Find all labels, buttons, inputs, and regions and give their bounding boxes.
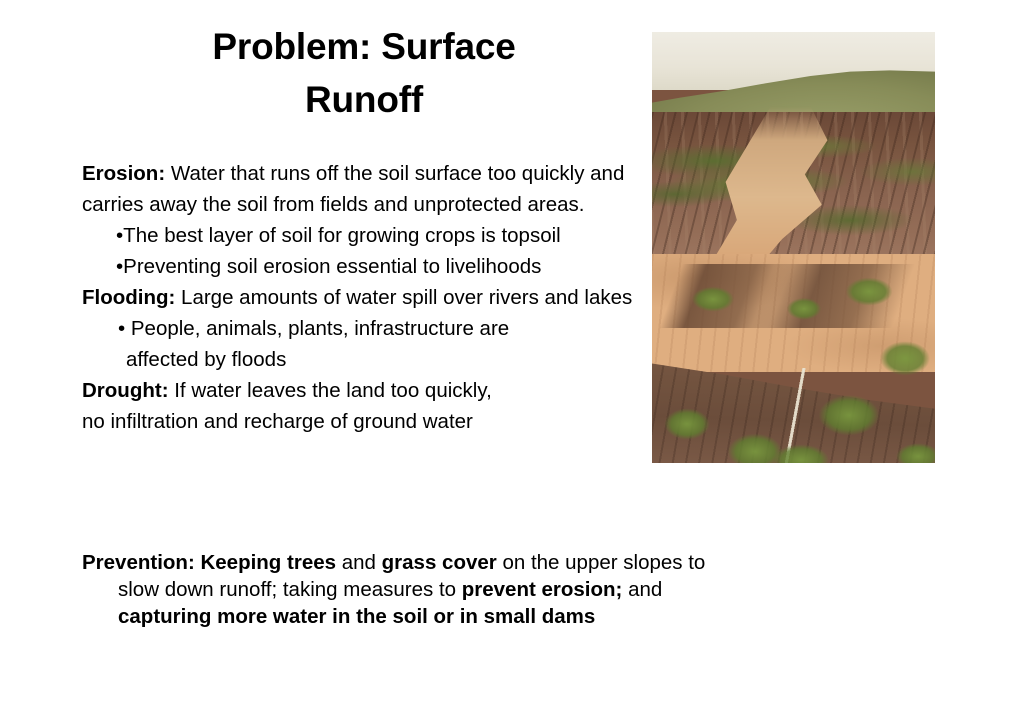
photo-grass-tuft bbox=[810, 384, 888, 436]
flooding-bullet-1-continuation: affected by floods bbox=[82, 344, 662, 375]
drought-line-2: no infiltration and recharge of ground w… bbox=[82, 406, 662, 437]
flooding-text: Large amounts of water spill over rivers… bbox=[175, 286, 632, 309]
prevention-plain-and-2: and bbox=[622, 578, 662, 601]
runoff-erosion-photo bbox=[652, 32, 935, 463]
photo-grass-tuft bbox=[873, 332, 935, 376]
photo-grass-tuft bbox=[765, 436, 837, 463]
erosion-bullet-1: •The best layer of soil for growing crop… bbox=[82, 220, 662, 251]
photo-grass-tuft bbox=[686, 280, 740, 312]
photo-grass-tuft bbox=[658, 400, 716, 440]
photo-grass-tuft bbox=[782, 292, 826, 320]
flooding-paragraph: Flooding: Large amounts of water spill o… bbox=[82, 282, 662, 313]
prevention-bold-grass-cover: grass cover bbox=[382, 551, 497, 574]
prevention-bold-prevent-erosion: prevent erosion; bbox=[462, 578, 623, 601]
prevention-plain-slow-down: slow down runoff; taking measures to bbox=[118, 578, 462, 601]
slide-canvas: Problem: Surface Runoff Erosion: Water t… bbox=[0, 0, 1024, 724]
photo-grass-tuft bbox=[839, 270, 899, 306]
prevention-plain-upper-slopes: on the upper slopes to bbox=[497, 551, 706, 574]
flooding-bullet-1: • People, animals, plants, infrastructur… bbox=[82, 313, 662, 344]
body-text-block: Erosion: Water that runs off the soil su… bbox=[82, 158, 662, 437]
drought-text: If water leaves the land too quickly, bbox=[169, 379, 492, 402]
flooding-label: Flooding: bbox=[82, 286, 175, 309]
erosion-bullet-2: •Preventing soil erosion essential to li… bbox=[82, 251, 662, 282]
prevention-line-1: Prevention: Keeping trees and grass cove… bbox=[82, 549, 812, 576]
prevention-bold-capturing-water: capturing more water in the soil or in s… bbox=[118, 605, 595, 628]
erosion-paragraph: Erosion: Water that runs off the soil su… bbox=[82, 158, 662, 220]
photo-grass-tuft bbox=[890, 436, 935, 463]
prevention-bold-keeping-trees: Prevention: Keeping trees bbox=[82, 551, 336, 574]
prevention-block: Prevention: Keeping trees and grass cove… bbox=[82, 549, 812, 630]
drought-paragraph: Drought: If water leaves the land too qu… bbox=[82, 375, 662, 406]
title-line-1: Problem: Surface bbox=[84, 20, 644, 73]
erosion-label: Erosion: bbox=[82, 162, 165, 185]
page-title: Problem: Surface Runoff bbox=[84, 20, 644, 126]
title-line-2: Runoff bbox=[84, 73, 644, 126]
prevention-line-3: capturing more water in the soil or in s… bbox=[82, 603, 812, 630]
drought-label: Drought: bbox=[82, 379, 169, 402]
prevention-plain-and-1: and bbox=[336, 551, 382, 574]
prevention-line-2: slow down runoff; taking measures to pre… bbox=[82, 576, 812, 603]
